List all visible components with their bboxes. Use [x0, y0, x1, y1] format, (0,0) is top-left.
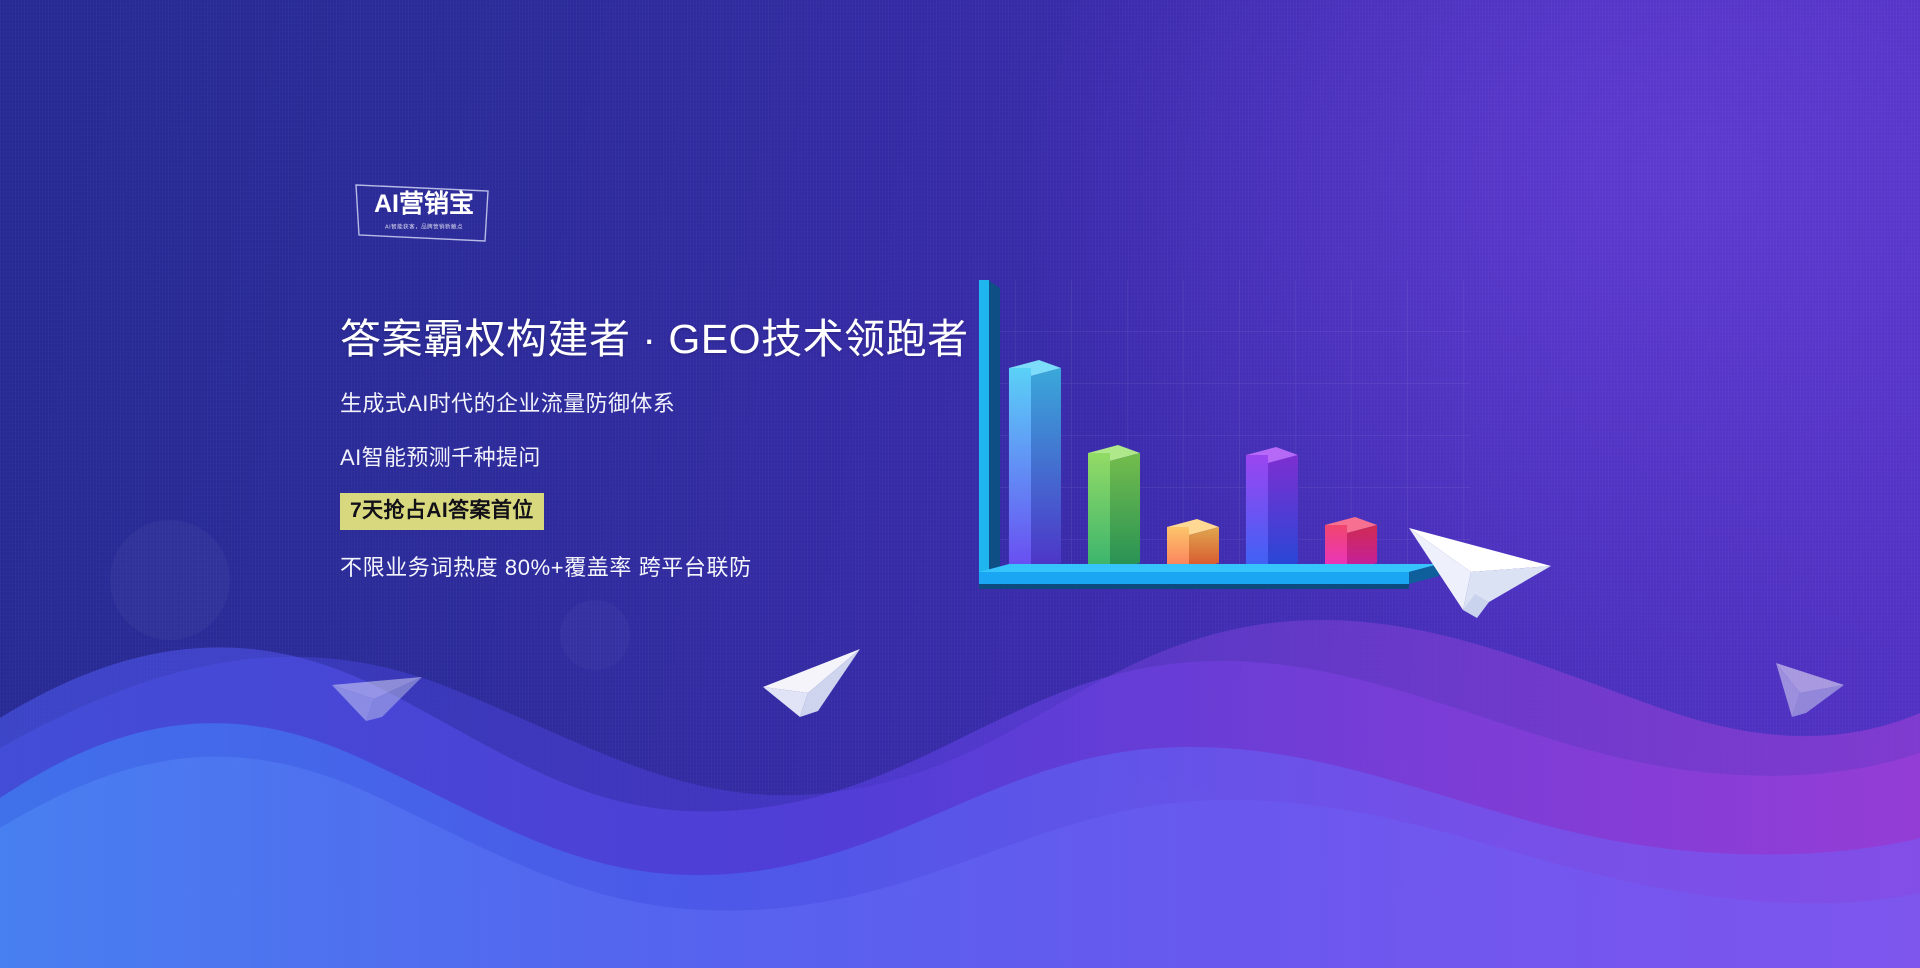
chart-y-axis: [979, 280, 1000, 580]
chart-grid: [1000, 280, 1470, 575]
decor-circle-light-bottom: [1040, 780, 1270, 968]
paper-plane-icon-right-faded: [1770, 655, 1855, 725]
decor-circle-pink-glow: [1395, 840, 1595, 968]
brand-logo[interactable]: AI营销宝 AI智能获客，品牌营销新触点: [352, 182, 492, 244]
chart-base: [979, 564, 1439, 589]
decor-circle-small-left: [110, 520, 230, 640]
hero-copy-block: 答案霸权构建者 · GEO技术领跑者 生成式AI时代的企业流量防御体系 AI智能…: [340, 312, 1060, 584]
subtitle-line-1: 生成式AI时代的企业流量防御体系: [340, 388, 1060, 420]
highlight-badge: 7天抢占AI答案首位: [340, 493, 544, 530]
chart-bar-1: [1009, 360, 1061, 571]
subtitle-line-2: AI智能预测千种提问: [340, 442, 1060, 474]
decor-circle-tiny-mid: [560, 600, 630, 670]
wave-mid: [0, 638, 1920, 968]
chart-bar-2: [1088, 445, 1140, 571]
chart-bar-4: [1246, 447, 1298, 571]
highlight-row: 7天抢占AI答案首位: [340, 493, 1060, 530]
chart-bar-5: [1325, 517, 1377, 571]
feature-list-line: 不限业务词热度 80%+覆盖率 跨平台联防: [340, 552, 1060, 584]
logo-wordmark: AI营销宝: [366, 191, 482, 218]
hero-banner: AI营销宝 AI智能获客，品牌营销新触点 答案霸权构建者 · GEO技术领跑者 …: [0, 0, 1920, 968]
wave-front: [0, 708, 1920, 968]
bar-chart-illustration: [960, 280, 1480, 680]
paper-plane-icon-mid: [760, 645, 865, 725]
page-title: 答案霸权构建者 · GEO技术领跑者: [340, 312, 1060, 366]
logo-tagline: AI智能获客，品牌营销新触点: [367, 222, 481, 230]
chart-bar-3: [1167, 519, 1219, 571]
paper-plane-icon-left-faded: [330, 655, 425, 727]
